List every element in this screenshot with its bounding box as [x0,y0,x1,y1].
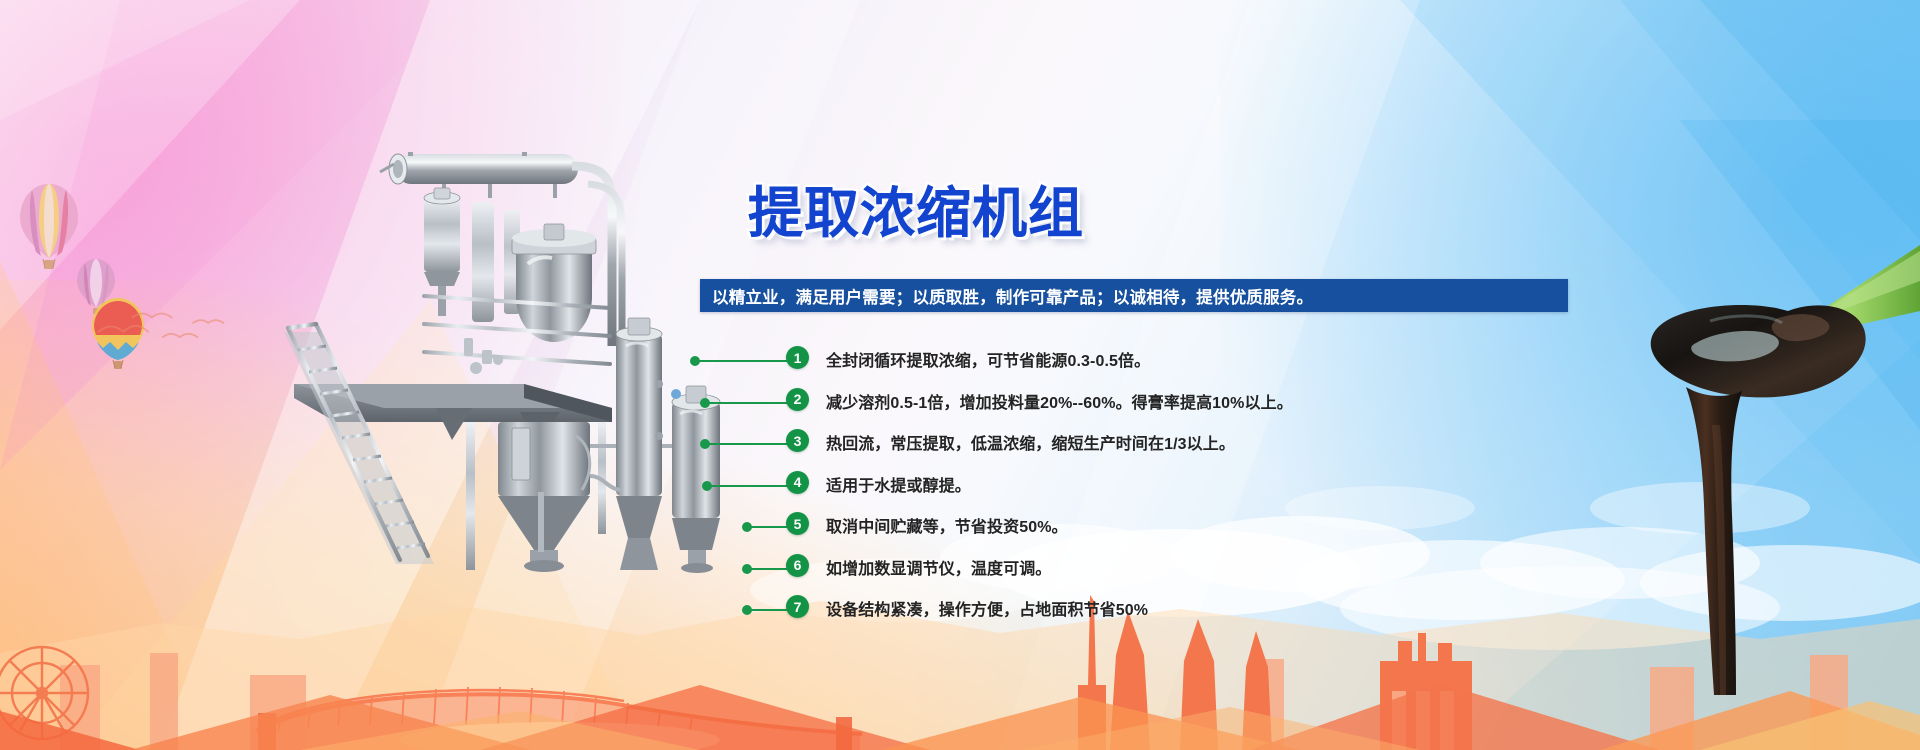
feature-number-badge: 3 [786,429,809,452]
feature-text: 如增加数显调节仪，温度可调。 [826,555,1051,579]
list-item: 1 全封闭循环提取浓缩，可节省能源0.3-0.5倍。 [690,346,1470,375]
list-item: 4 适用于水提或醇提。 [690,471,1470,500]
feature-number-badge: 7 [786,595,809,618]
feature-text: 取消中间贮藏等，节省投资50%。 [826,513,1068,537]
list-item: 7 设备结构紧凑，操作方便，占地面积节省50% [690,595,1470,624]
connector-line [698,360,790,362]
feature-text: 热回流，常压提取，低温浓缩，缩短生产时间在1/3以上。 [826,430,1235,454]
feature-text: 减少溶剂0.5-1倍，增加投料量20%--60%。得膏率提高10%以上。 [826,389,1293,413]
list-item: 6 如增加数显调节仪，温度可调。 [690,554,1470,583]
feature-number-badge: 4 [786,471,809,494]
extract-drip-product-image [1520,215,1920,695]
connector-line [750,526,790,528]
feature-text: 全封闭循环提取浓缩，可节省能源0.3-0.5倍。 [826,347,1150,371]
list-item: 3 热回流，常压提取，低温浓缩，缩短生产时间在1/3以上。 [690,429,1470,458]
list-item: 5 取消中间贮藏等，节省投资50%。 [690,512,1470,541]
feature-list: 1 全封闭循环提取浓缩，可节省能源0.3-0.5倍。 2 减少溶剂0.5-1倍，… [690,346,1470,637]
feature-text: 设备结构紧凑，操作方便，占地面积节省50% [826,596,1148,620]
feature-text: 适用于水提或醇提。 [826,472,971,496]
feature-number-badge: 6 [786,554,809,577]
connector-line [708,443,790,445]
feature-number-badge: 2 [786,388,809,411]
slogan-bar: 以精立业，满足用户需要；以质取胜，制作可靠产品；以诚相待，提供优质服务。 [700,279,1568,312]
connector-line [750,609,790,611]
connector-line [710,485,790,487]
connector-line [708,402,790,404]
feature-number-badge: 5 [786,512,809,535]
birds-icon [90,305,230,355]
feature-number-badge: 1 [786,346,809,369]
page-title: 提取浓缩机组 [748,186,1084,241]
connector-line [750,568,790,570]
product-banner: 提取浓缩机组 提取浓缩机组 以精立业，满足用户需要；以质取胜，制作可靠产品；以诚… [0,0,1920,750]
list-item: 2 减少溶剂0.5-1倍，增加投料量20%--60%。得膏率提高10%以上。 [690,388,1470,417]
extraction-concentration-machine [276,146,746,576]
slogan-text: 以精立业，满足用户需要；以质取胜，制作可靠产品；以诚相待，提供优质服务。 [712,284,1313,308]
